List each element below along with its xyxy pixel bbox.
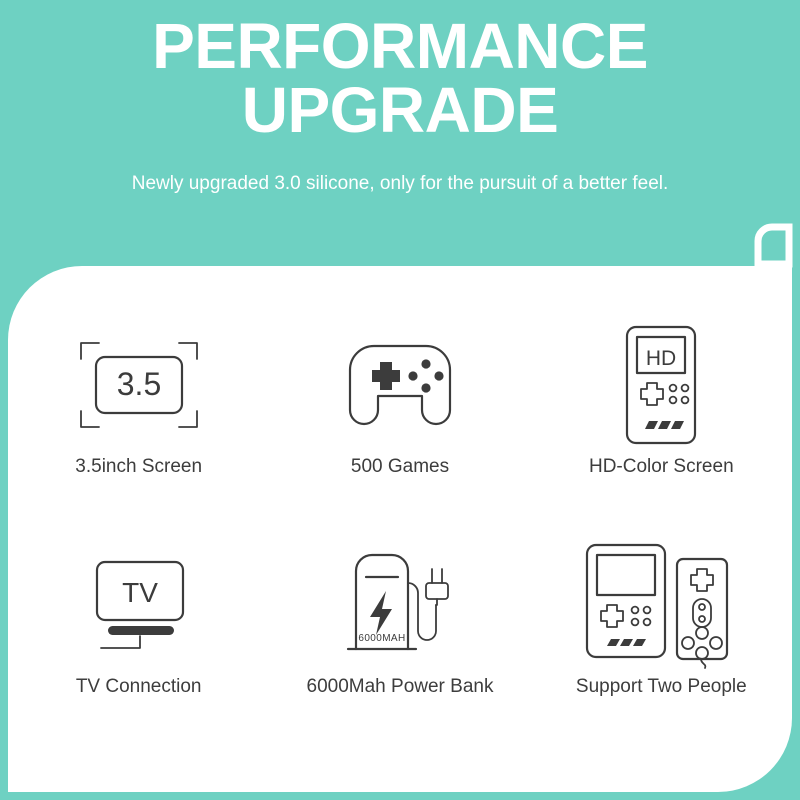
gamepad-icon bbox=[338, 310, 462, 460]
tv-label: TV bbox=[122, 577, 158, 608]
tv-icon: TV bbox=[77, 530, 201, 680]
feature-label: Support Two People bbox=[576, 676, 747, 698]
brand-logo bbox=[751, 226, 791, 266]
feature-grid: 3.5 3.5inch Screen 500 G bbox=[8, 310, 792, 750]
feature-label: 500 Games bbox=[351, 456, 449, 478]
poster-header: PERFORMANCE UPGRADE Newly upgraded 3.0 s… bbox=[0, 0, 800, 265]
title-line-2: UPGRADE bbox=[0, 78, 800, 142]
page-title: PERFORMANCE UPGRADE bbox=[0, 14, 800, 142]
feature-item-screen-size: 3.5 3.5inch Screen bbox=[8, 310, 269, 530]
promo-poster: PERFORMANCE UPGRADE Newly upgraded 3.0 s… bbox=[0, 0, 800, 800]
screen-size-icon: 3.5 bbox=[71, 310, 207, 460]
hd-label: HD bbox=[646, 347, 676, 370]
power-bank-capacity: 6000MAH bbox=[358, 633, 405, 644]
feature-label: 6000Mah Power Bank bbox=[307, 676, 494, 698]
screen-size-value: 3.5 bbox=[116, 366, 160, 402]
feature-item-hd-screen: HD HD-Color Screen bbox=[531, 310, 792, 530]
feature-item-two-player: Support Two People bbox=[531, 530, 792, 750]
feature-item-tv: TV TV Connection bbox=[8, 530, 269, 750]
feature-item-power-bank: 6000MAH 6000Mah Power Bank bbox=[269, 530, 530, 750]
power-bank-icon: 6000MAH bbox=[332, 530, 468, 680]
handheld-console-icon: HD bbox=[613, 310, 709, 460]
feature-label: HD-Color Screen bbox=[589, 456, 734, 478]
page-subtitle: Newly upgraded 3.0 silicone, only for th… bbox=[0, 172, 800, 196]
feature-label: 3.5inch Screen bbox=[75, 456, 202, 478]
feature-item-games: 500 Games bbox=[269, 310, 530, 530]
title-line-1: PERFORMANCE bbox=[152, 10, 648, 82]
feature-label: TV Connection bbox=[76, 676, 202, 698]
feature-card: 3.5 3.5inch Screen 500 G bbox=[8, 266, 792, 792]
two-player-icon bbox=[579, 530, 743, 680]
